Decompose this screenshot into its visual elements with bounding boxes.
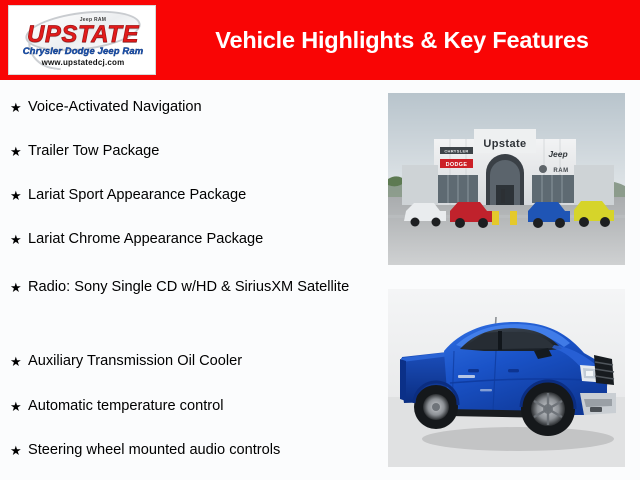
logo-tagline: Chrysler Dodge Jeep Ram (9, 46, 156, 57)
svg-text:Upstate: Upstate (483, 138, 526, 150)
svg-text:CHRYSLER: CHRYSLER (444, 149, 468, 154)
vehicle-photo (388, 289, 625, 467)
feature-item-label: Voice-Activated Navigation (28, 98, 370, 117)
feature-item-label: Lariat Chrome Appearance Package (28, 230, 370, 249)
feature-item: ★Automatic temperature control (10, 397, 370, 416)
svg-text:Jeep: Jeep (548, 149, 567, 159)
dealer-logo-artwork: Jeep RAM UPSTATE Chrysler Dodge Jeep Ram… (9, 6, 155, 74)
star-bullet-icon: ★ (10, 441, 28, 460)
logo-wordmark: UPSTATE (9, 23, 156, 47)
star-bullet-icon: ★ (10, 397, 28, 416)
star-bullet-icon: ★ (10, 352, 28, 371)
feature-item: ★Radio: Sony Single CD w/HD & SiriusXM S… (10, 278, 370, 297)
feature-list: ★Voice-Activated Navigation★Trailer Tow … (0, 88, 372, 474)
feature-item: ★Voice-Activated Navigation (10, 98, 370, 117)
logo-website-url: www.upstatedcj.com (9, 58, 156, 67)
dealership-photo: Upstate CHRYSLER DODGE Jeep RAM (388, 93, 625, 265)
feature-item-label: Trailer Tow Package (28, 142, 370, 161)
svg-text:RAM: RAM (553, 168, 568, 174)
feature-item: ★Auxiliary Transmission Oil Cooler (10, 352, 370, 371)
feature-item-label: Automatic temperature control (28, 397, 370, 416)
star-bullet-icon: ★ (10, 142, 28, 161)
feature-item: ★Trailer Tow Package (10, 142, 370, 161)
dealer-logo[interactable]: Jeep RAM UPSTATE Chrysler Dodge Jeep Ram… (8, 5, 156, 75)
page-title: Vehicle Highlights & Key Features (196, 0, 608, 80)
feature-item-label: Lariat Sport Appearance Package (28, 186, 370, 205)
star-bullet-icon: ★ (10, 98, 28, 117)
feature-item-label: Steering wheel mounted audio controls (28, 441, 370, 460)
svg-text:DODGE: DODGE (446, 162, 468, 168)
star-bullet-icon: ★ (10, 230, 28, 249)
feature-item-label: Auxiliary Transmission Oil Cooler (28, 352, 370, 371)
dealership-photo-image: Upstate CHRYSLER DODGE Jeep RAM (388, 93, 625, 265)
feature-item-label: Radio: Sony Single CD w/HD & SiriusXM Sa… (28, 278, 370, 297)
star-bullet-icon: ★ (10, 278, 28, 297)
feature-item: ★Lariat Sport Appearance Package (10, 186, 370, 205)
feature-item: ★Lariat Chrome Appearance Package (10, 230, 370, 249)
vehicle-photo-image (388, 289, 625, 467)
star-bullet-icon: ★ (10, 186, 28, 205)
feature-item: ★Steering wheel mounted audio controls (10, 441, 370, 460)
